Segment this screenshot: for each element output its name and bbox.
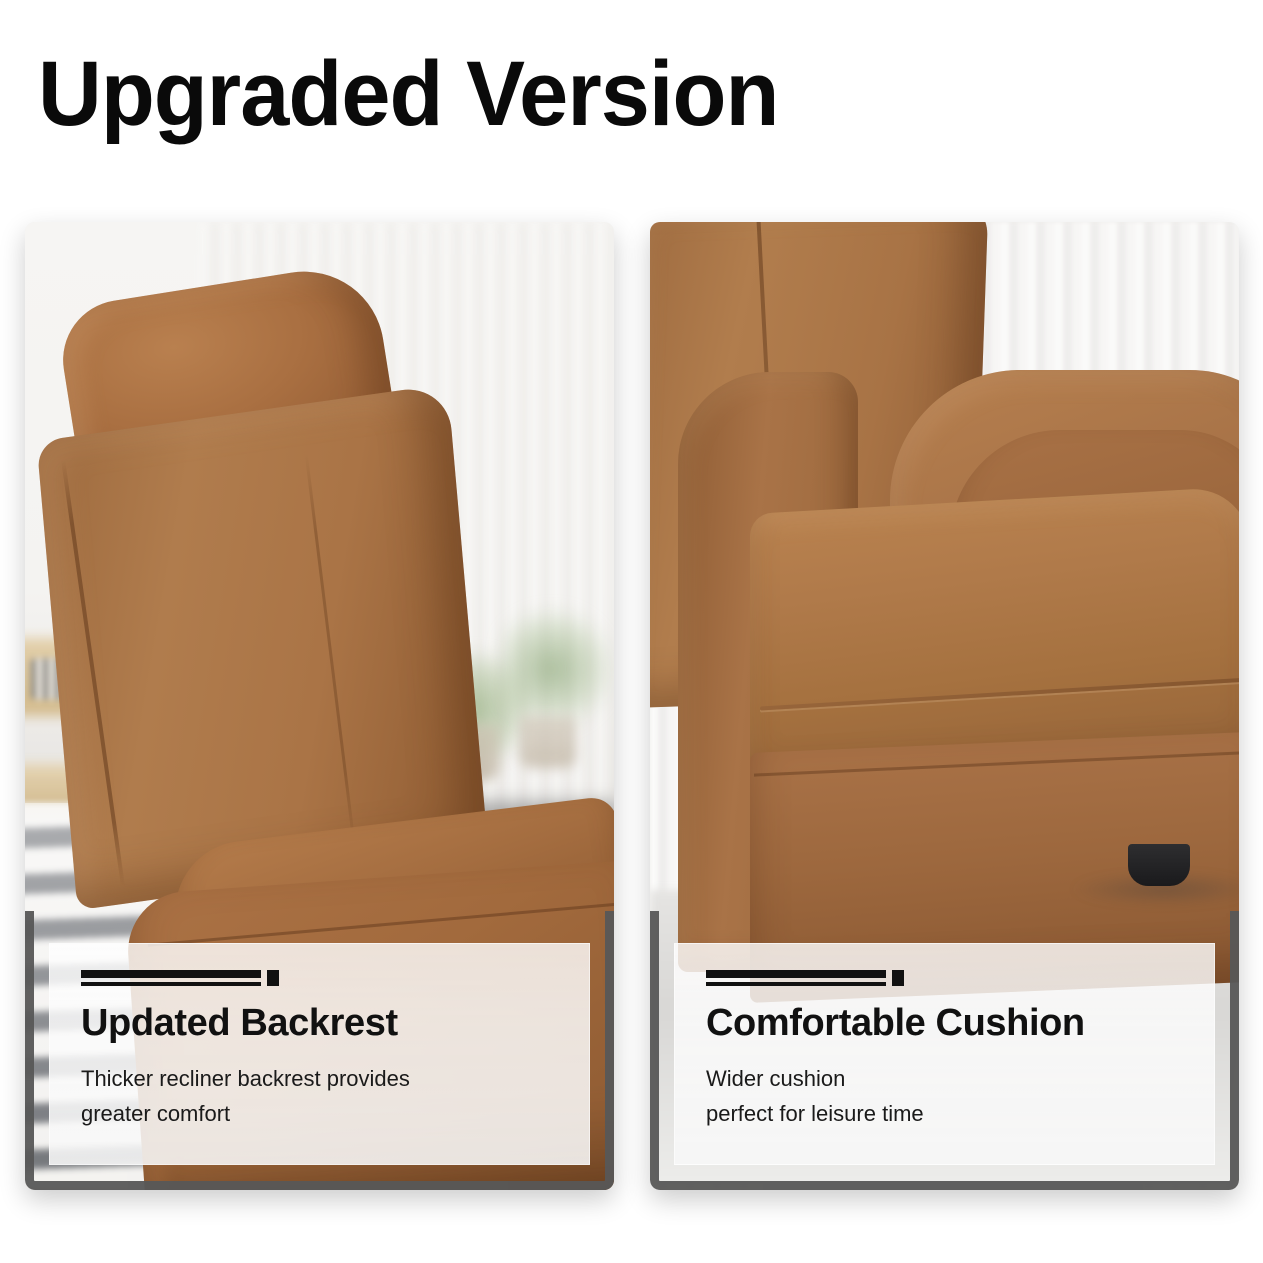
- rule-bar-thick: [81, 970, 261, 978]
- rule-bar-thin: [81, 982, 261, 986]
- rule-bar-thin: [706, 982, 886, 986]
- rule-end-square: [267, 970, 279, 986]
- caption-card-cushion: Comfortable Cushion Wider cushion perfec…: [674, 943, 1215, 1165]
- caption-card-backrest: Updated Backrest Thicker recliner backre…: [49, 943, 590, 1165]
- rule-end-square: [892, 970, 904, 986]
- product-feature-graphic: Upgraded Version: [0, 0, 1263, 1263]
- page-title: Upgraded Version: [38, 48, 778, 140]
- caption-heading: Updated Backrest: [81, 1002, 589, 1045]
- feature-panel-backrest: Updated Backrest Thicker recliner backre…: [25, 222, 614, 1190]
- caption-body: Thicker recliner backrest provides great…: [81, 1061, 589, 1132]
- divider-rule: [706, 970, 904, 988]
- chair-foot: [1128, 844, 1190, 886]
- divider-rule: [81, 970, 279, 988]
- caption-body: Wider cushion perfect for leisure time: [706, 1061, 1214, 1132]
- caption-heading: Comfortable Cushion: [706, 1002, 1214, 1045]
- feature-panel-cushion: Comfortable Cushion Wider cushion perfec…: [650, 222, 1239, 1190]
- rule-bar-thick: [706, 970, 886, 978]
